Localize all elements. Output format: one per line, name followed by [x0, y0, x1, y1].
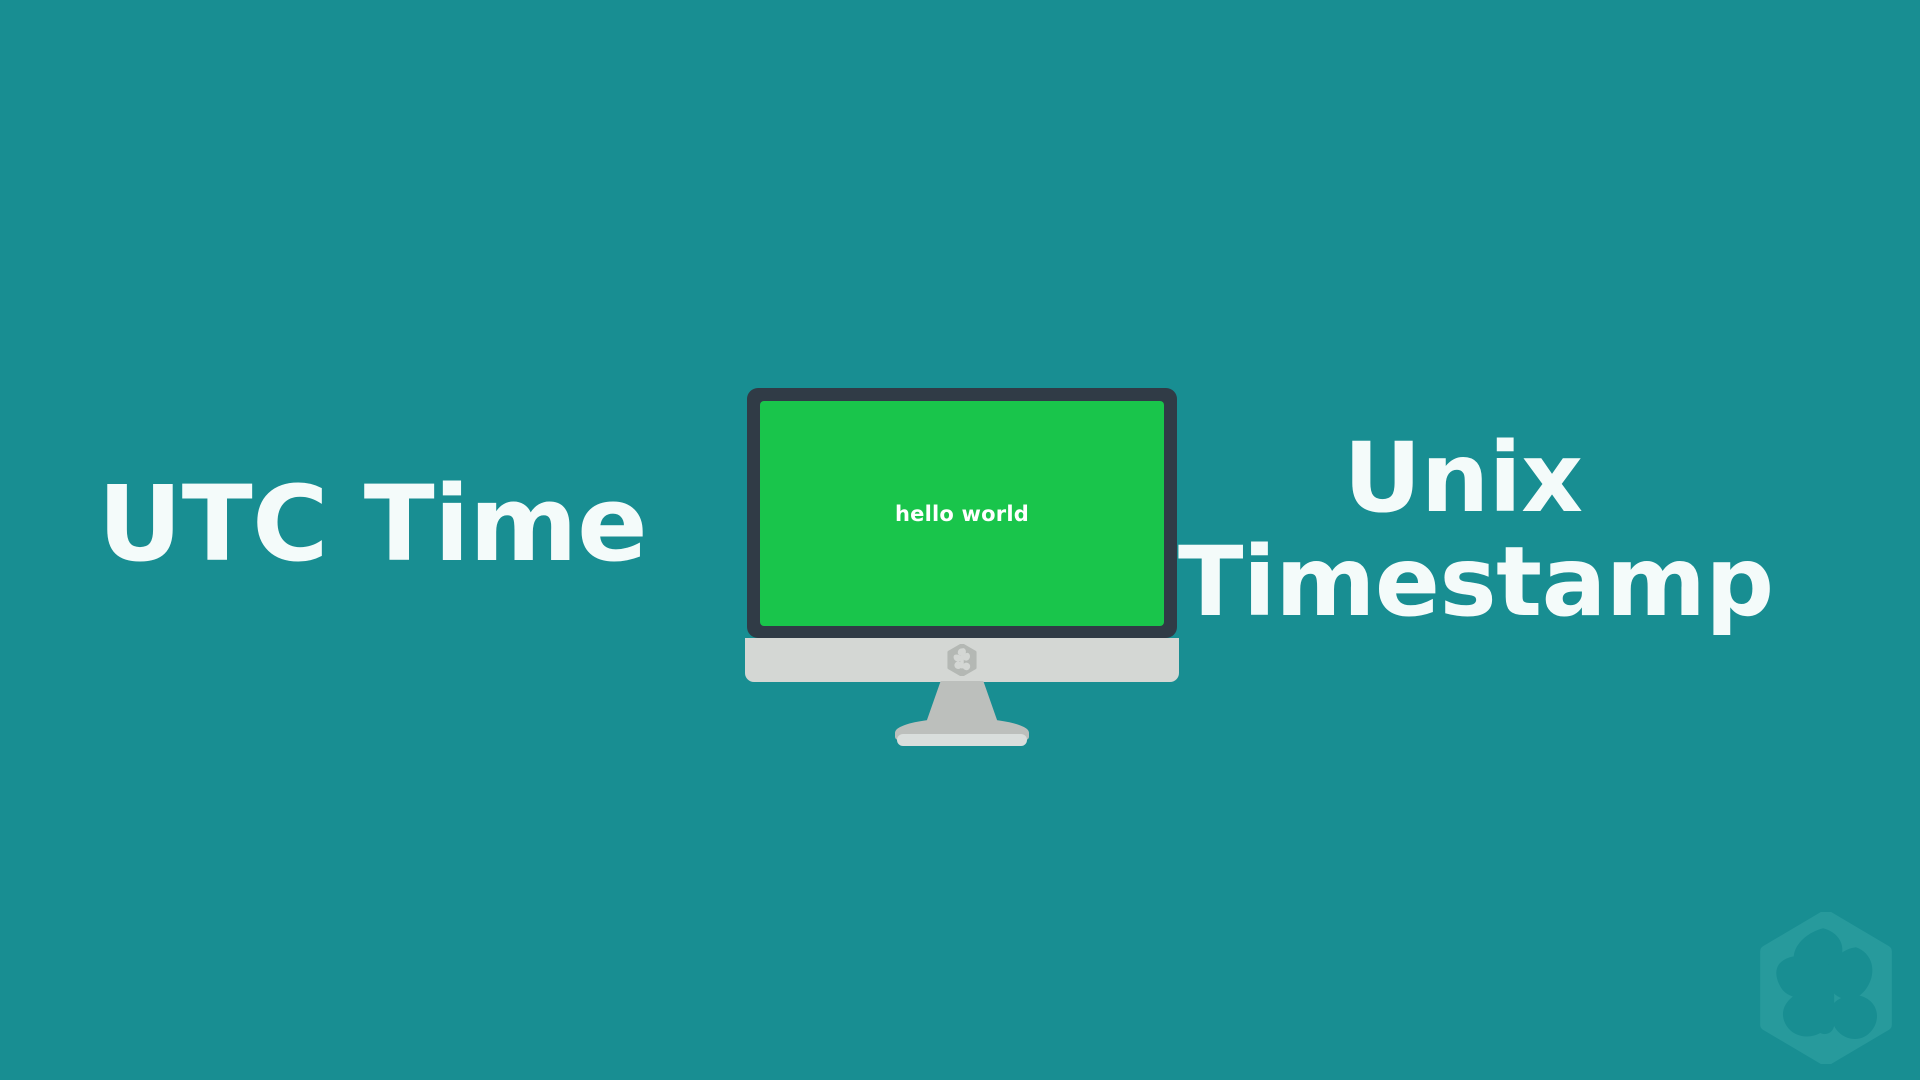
- screen-hello-world-text: hello world: [895, 502, 1029, 526]
- monitor-screen: hello world: [760, 401, 1164, 626]
- page-title-utc-time: UTC Time: [0, 468, 745, 580]
- hexagon-splat-logo-icon: [947, 644, 977, 676]
- monitor-stand-base: [897, 734, 1027, 746]
- page-title-unix-timestamp: Unix Timestamp: [1178, 426, 1748, 634]
- hexagon-splat-watermark-icon: [1758, 912, 1894, 1064]
- monitor-chin: [745, 638, 1179, 682]
- monitor-bezel: hello world: [747, 388, 1177, 638]
- slide-canvas: UTC Time Unix Timestamp hello world: [0, 0, 1920, 1080]
- monitor-illustration: hello world: [745, 388, 1179, 752]
